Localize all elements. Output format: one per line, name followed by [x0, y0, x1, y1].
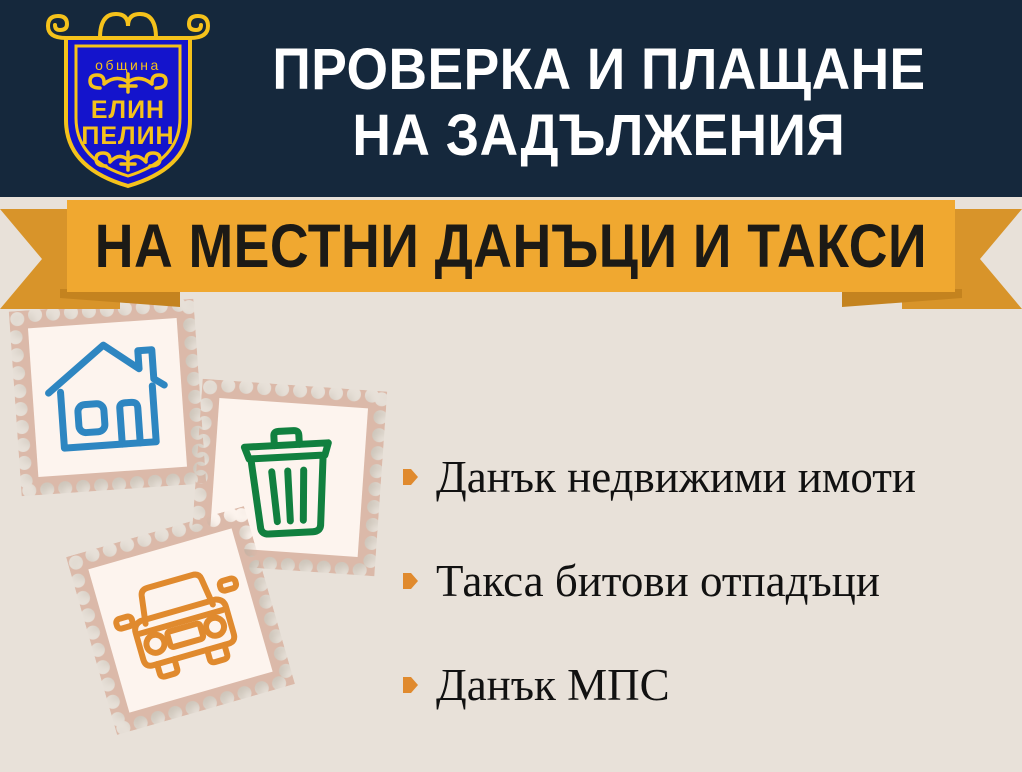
bullet-arrow-icon: [403, 469, 418, 485]
stamp-cards-group: [0, 300, 430, 772]
logo-name-line-2: ПЕЛИН: [81, 122, 174, 150]
ribbon-panel: НА МЕСТНИ ДАНЪЦИ И ТАКСИ: [67, 200, 955, 292]
trash-bin-icon: [244, 429, 333, 535]
title-line-2: НА ЗАДЪЛЖЕНИЯ: [353, 103, 846, 169]
municipality-logo: община ЕЛИН ПЕЛИН: [38, 8, 218, 190]
ribbon-label: НА МЕСТНИ ДАНЪЦИ И ТАКСИ: [95, 215, 927, 277]
list-item-label: Данък МПС: [436, 660, 670, 710]
coat-of-arms-icon: община ЕЛИН ПЕЛИН: [38, 8, 218, 190]
bullet-arrow-icon: [403, 677, 418, 693]
logo-top-text: община: [95, 57, 161, 73]
list-item-label: Такса битови отпадъци: [436, 556, 880, 606]
bullet-arrow-icon: [403, 573, 418, 589]
list-item-label: Данък недвижими имоти: [436, 452, 916, 502]
poster-root: община ЕЛИН ПЕЛИН ПРОВЕРКА И П: [0, 0, 1022, 772]
title-line-1: ПРОВЕРКА И ПЛАЩАНЕ: [272, 37, 925, 103]
list-item: Данък недвижими имоти: [403, 425, 1013, 529]
stamp-card-house: [9, 299, 206, 496]
poster-title: ПРОВЕРКА И ПЛАЩАНЕ НА ЗАДЪЛЖЕНИЯ: [196, 18, 1002, 188]
list-item: Такса битови отпадъци: [403, 529, 1013, 633]
list-item: Данък МПС: [403, 633, 1013, 737]
logo-name-line-1: ЕЛИН: [91, 96, 165, 124]
subtitle-ribbon: НА МЕСТНИ ДАНЪЦИ И ТАКСИ: [0, 197, 1022, 309]
tax-type-list: Данък недвижими имоти Такса битови отпад…: [403, 425, 1013, 737]
